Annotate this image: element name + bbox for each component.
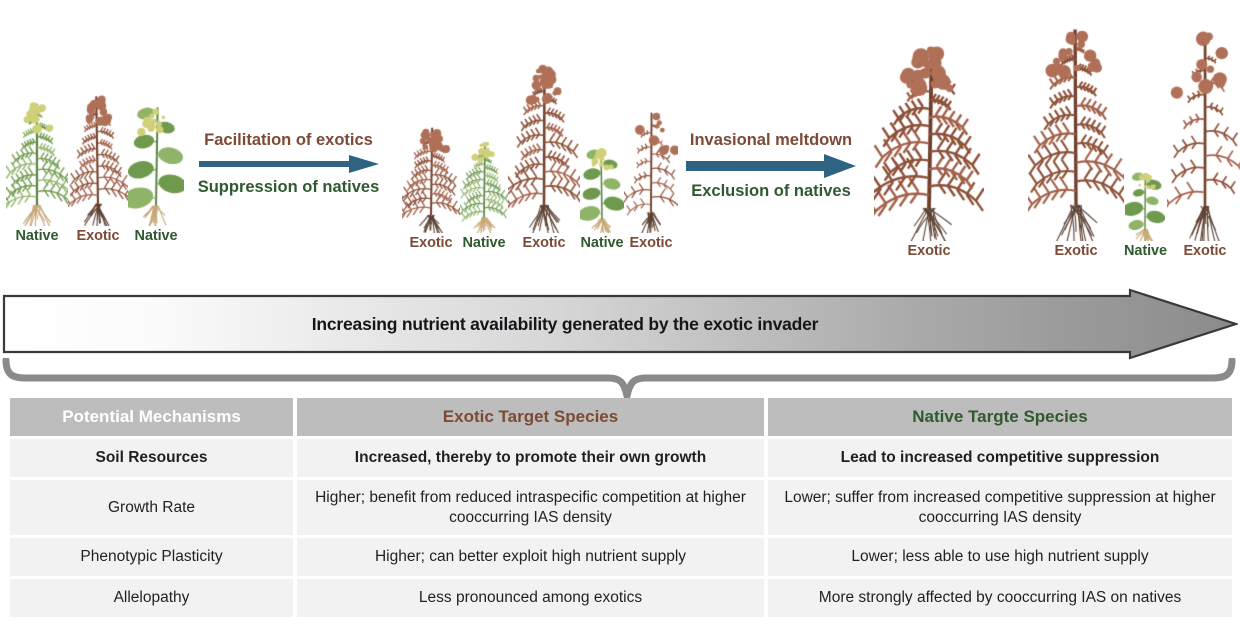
plant-exotic-icon (1028, 16, 1124, 241)
table-header-native: Native Targte Species (768, 398, 1232, 436)
cell-text: Growth Rate (100, 498, 203, 517)
plant-slot: Native (580, 145, 624, 251)
plant-exotic-icon (1167, 23, 1240, 241)
table-cell-native: More strongly affected by cooccurring IA… (768, 579, 1232, 617)
table-header-mechanisms: Potential Mechanisms (10, 398, 293, 436)
plant-native-icon (1125, 169, 1165, 241)
cell-text: Soil Resources (88, 449, 216, 467)
plant-slot: Exotic (1028, 16, 1124, 259)
plant-label: Exotic (1183, 243, 1226, 259)
plant-label: Exotic (630, 235, 673, 251)
table-row: Growth Rate Higher; benefit from reduced… (10, 480, 1232, 535)
plant-label: Native (1124, 243, 1167, 259)
plant-native-icon (580, 145, 624, 233)
plant-slot: Exotic (624, 105, 678, 251)
plant-label: Native (463, 235, 506, 251)
plant-group-stage-1: Native Exotic Native (6, 88, 184, 244)
table-cell-native: Lead to increased competitive suppressio… (768, 439, 1232, 477)
plant-native-icon (6, 96, 68, 226)
cell-text: Increased, thereby to promote their own … (347, 449, 714, 467)
plant-label: Native (135, 228, 178, 244)
table-row: Phenotypic Plasticity Higher; can better… (10, 538, 1232, 576)
plant-exotic-icon (402, 121, 460, 233)
plant-slot: Exotic (508, 58, 580, 251)
plant-slot: Native (1124, 169, 1167, 259)
plant-slot: Exotic (68, 88, 128, 244)
cell-text: Phenotypic Plasticity (72, 548, 230, 566)
table-cell-exotic: Higher; can better exploit high nutrient… (297, 538, 764, 576)
arrow-right-icon (199, 154, 379, 174)
transition-facilitation: Facilitation of exotics Suppression of n… (186, 131, 391, 196)
plant-label: Exotic (908, 243, 951, 259)
plant-label: Exotic (1055, 243, 1098, 259)
table-header-row: Potential Mechanisms Exotic Target Speci… (10, 398, 1232, 436)
cell-text: Higher; can better exploit high nutrient… (367, 548, 694, 566)
brace-icon (0, 358, 1240, 400)
table-cell-exotic: Increased, thereby to promote their own … (297, 439, 764, 477)
table-row: Soil Resources Increased, thereby to pro… (10, 439, 1232, 477)
plant-group-stage-3: Exotic Exotic Native Exotic (874, 16, 1240, 259)
table-cell-exotic: Less pronounced among exotics (297, 579, 764, 617)
plant-exotic-icon (874, 35, 984, 241)
table-cell-mechanism: Soil Resources (10, 439, 293, 477)
plant-exotic-icon (508, 58, 580, 233)
cell-text: Lead to increased competitive suppressio… (833, 449, 1168, 467)
table-cell-mechanism: Growth Rate (10, 480, 293, 535)
plant-slot: Native (128, 100, 184, 244)
cell-text: Higher; benefit from reduced intraspecif… (297, 488, 764, 527)
plant-group-stage-2: Exotic Native Exotic Native Exotic (402, 58, 678, 251)
mechanisms-table: Potential Mechanisms Exotic Target Speci… (10, 398, 1232, 620)
plant-slot: Exotic (402, 121, 460, 251)
cell-text: Lower; suffer from increased competitive… (768, 488, 1232, 527)
plant-slot: Exotic (874, 35, 984, 259)
table-header-exotic: Exotic Target Species (297, 398, 764, 436)
table-cell-mechanism: Allelopathy (10, 579, 293, 617)
plant-native-icon (460, 138, 508, 233)
table-cell-native: Lower; less able to use high nutrient su… (768, 538, 1232, 576)
cell-text: Lower; less able to use high nutrient su… (843, 548, 1156, 566)
plant-exotic-icon (624, 105, 678, 233)
invasion-conceptual-figure: Native Exotic Native Facilitation of exo… (0, 0, 1240, 642)
plant-exotic-icon (68, 88, 128, 226)
transition-bottom-label: Exclusion of natives (676, 182, 866, 200)
table-cell-exotic: Higher; benefit from reduced intraspecif… (297, 480, 764, 535)
plant-slot: Native (6, 96, 68, 244)
plant-native-icon (128, 100, 184, 226)
plant-label: Native (16, 228, 59, 244)
plant-slot: Native (460, 138, 508, 251)
transition-top-label: Invasional meltdown (676, 131, 866, 149)
table-row: Allelopathy Less pronounced among exotic… (10, 579, 1232, 617)
table-cell-mechanism: Phenotypic Plasticity (10, 538, 293, 576)
cell-text: Allelopathy (106, 589, 198, 607)
cell-text: Less pronounced among exotics (411, 589, 650, 607)
plant-label: Native (581, 235, 624, 251)
plant-slot: Exotic (1167, 23, 1240, 259)
gradient-arrow-shape (2, 288, 1238, 360)
plant-illustration-band: Native Exotic Native Facilitation of exo… (0, 0, 1240, 285)
plant-label: Exotic (410, 235, 453, 251)
transition-top-label: Facilitation of exotics (186, 131, 391, 149)
nutrient-gradient-arrow: Increasing nutrient availability generat… (2, 288, 1238, 360)
table-cell-native: Lower; suffer from increased competitive… (768, 480, 1232, 535)
arrow-right-icon (686, 154, 856, 178)
transition-bottom-label: Suppression of natives (186, 178, 391, 196)
plant-label: Exotic (77, 228, 120, 244)
brace-connector (0, 358, 1240, 400)
transition-meltdown: Invasional meltdown Exclusion of natives (676, 131, 866, 200)
cell-text: More strongly affected by cooccurring IA… (811, 589, 1189, 607)
plant-label: Exotic (523, 235, 566, 251)
